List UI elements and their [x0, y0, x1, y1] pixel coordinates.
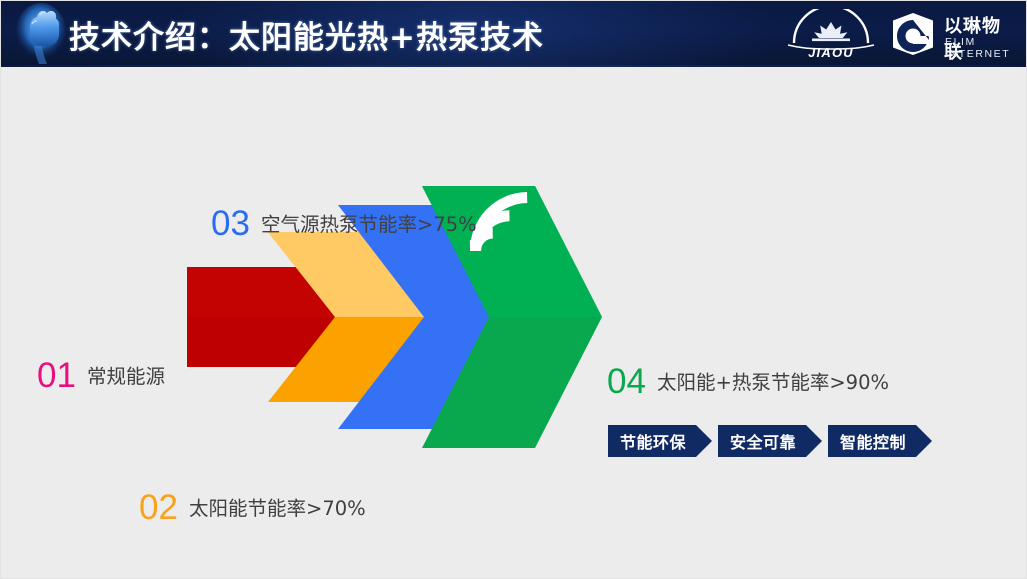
page-title: 技术介绍：太阳能光热+热泵技术 — [69, 12, 544, 57]
step-label-02: 太阳能节能率>70% — [189, 499, 366, 519]
step-label-03: 空气源热泵节能率>75% — [261, 215, 477, 235]
badge-label: 节能环保 — [608, 429, 686, 453]
elim-logo: 以琳物联 ELIM INTERNET — [888, 11, 1014, 57]
step-number-01: 01 — [37, 358, 76, 393]
slide-header: 技术介绍：太阳能光热+热泵技术 JIAOU 以琳物联 ELIM INTERNET — [1, 1, 1027, 67]
fist-icon — [14, 2, 68, 66]
badge-smart-control[interactable]: 智能控制 — [828, 425, 932, 457]
elim-logo-en: ELIM INTERNET — [945, 36, 1014, 60]
jiaou-logo-text: JIAOU — [782, 45, 880, 60]
step-label-04: 太阳能+热泵节能率>90% — [657, 373, 889, 393]
step-number-03: 03 — [211, 206, 250, 241]
badge-energy-saving[interactable]: 节能环保 — [608, 425, 712, 457]
badge-label: 智能控制 — [828, 429, 906, 453]
step-label-01: 常规能源 — [87, 367, 165, 387]
step-number-04: 04 — [607, 364, 646, 399]
badge-label: 安全可靠 — [718, 429, 796, 453]
badge-safe-reliable[interactable]: 安全可靠 — [718, 425, 822, 457]
slide-canvas: 技术介绍：太阳能光热+热泵技术 JIAOU 以琳物联 ELIM INTERNET — [0, 0, 1027, 579]
slide-body: 01 常规能源 02 太阳能节能率>70% 03 空气源热泵节能率>75% 04… — [1, 67, 1027, 579]
elim-mark-icon — [888, 11, 938, 57]
step-number-02: 02 — [139, 490, 178, 525]
jiaou-logo: JIAOU — [782, 9, 880, 59]
